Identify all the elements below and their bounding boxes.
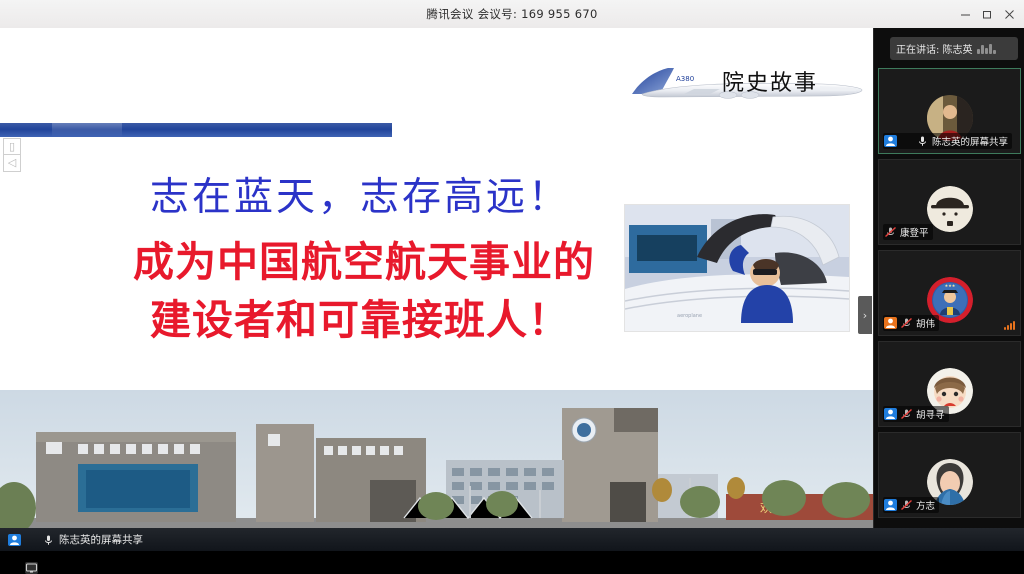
slide-blue-headline: 志在蓝天，志存高远！ [150, 166, 620, 222]
tencent-meeting-window: 腾讯会议 会议号: 169 955 670 [0, 0, 1024, 551]
participant-name: 康登平 [900, 225, 929, 239]
participant-name: 方志 [916, 498, 935, 512]
restore-icon[interactable] [976, 0, 998, 28]
participant-namebar: 陈志英的屏幕共享 [883, 133, 1012, 149]
presentation-slide: A380 院史故事 ▯ ◁ 志在蓝天，志存高远！ 成为中国航空航天事业的 建设者… [0, 28, 873, 528]
audio-wave-icon [977, 44, 996, 54]
mic-muted-icon [884, 226, 897, 238]
slide-header-title: 院史故事 [722, 65, 818, 97]
screen-share-icon [25, 562, 38, 574]
speaking-label: 正在讲话: 陈志英 [896, 41, 973, 56]
participant-tiles: 陈志英的屏幕共享 [874, 68, 1024, 528]
network-signal-icon [1004, 321, 1015, 330]
participant-tile-2[interactable]: ★★★ 胡伟 [878, 250, 1021, 336]
window-titlebar: 腾讯会议 会议号: 169 955 670 [0, 0, 1024, 29]
campus-photo: 欢迎 Bai [0, 390, 873, 528]
close-icon[interactable] [998, 0, 1020, 28]
participant-namebar: 康登平 [883, 224, 933, 240]
minimize-icon[interactable] [954, 0, 976, 28]
host-icon [8, 534, 21, 546]
host-icon [884, 408, 897, 420]
shared-screen-area[interactable]: A380 院史故事 ▯ ◁ 志在蓝天，志存高远！ 成为中国航空航天事业的 建设者… [0, 28, 873, 528]
participant-tile-1[interactable]: 康登平 [878, 159, 1021, 245]
status-bar: 陈志英的屏幕共享 [0, 528, 1024, 551]
slide-red-headline-1: 成为中国航空航天事业的 [133, 228, 633, 288]
mic-icon [42, 534, 55, 546]
participant-tile-0[interactable]: 陈志英的屏幕共享 [878, 68, 1021, 154]
window-title: 腾讯会议 会议号: 169 955 670 [426, 6, 597, 22]
mic-muted-icon [900, 408, 913, 420]
svg-text:★★★: ★★★ [944, 283, 955, 288]
host-icon [884, 499, 897, 511]
participant-tile-4[interactable]: 方志 [878, 432, 1021, 518]
host-icon [884, 135, 897, 147]
slide-accent-bar [0, 123, 392, 137]
window-controls [954, 0, 1020, 28]
participant-tile-3[interactable]: 胡寻寻 [878, 341, 1021, 427]
mic-muted-icon [900, 499, 913, 511]
chevron-right-icon[interactable]: › [858, 296, 872, 334]
participant-namebar: 方志 [883, 497, 939, 513]
participant-namebar: 胡伟 [883, 315, 939, 331]
host-icon [884, 317, 897, 329]
participant-panel: 正在讲话: 陈志英 [873, 28, 1024, 528]
svg-text:aeroplane: aeroplane [677, 313, 702, 319]
participant-name: 胡伟 [916, 316, 935, 330]
speaking-banner: 正在讲话: 陈志英 [890, 37, 1018, 60]
slide-red-headline-2: 建设者和可靠接班人！ [150, 286, 620, 346]
broken-image-icon-2: ◁ [3, 154, 21, 172]
participant-name: 胡寻寻 [916, 407, 945, 421]
participant-namebar: 胡寻寻 [883, 406, 949, 422]
mic-icon [916, 135, 929, 147]
participant-name: 陈志英的屏幕共享 [932, 134, 1008, 148]
mic-muted-icon [900, 317, 913, 329]
avatar [927, 186, 973, 232]
pilot-photo: aeroplane [624, 204, 850, 332]
svg-text:A380: A380 [676, 75, 694, 83]
status-bar-label: 陈志英的屏幕共享 [59, 532, 143, 547]
